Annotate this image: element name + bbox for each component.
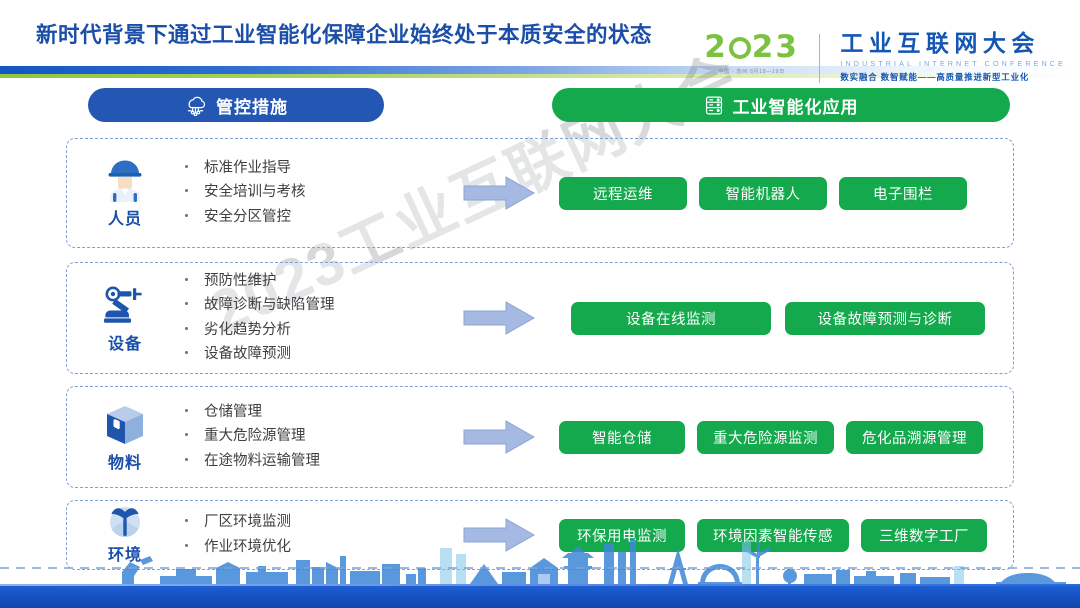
- category-personnel: 人员: [79, 157, 171, 229]
- logo-divider: [819, 34, 821, 83]
- bullet-list-material: 仓储管理 重大危险源管理 在途物料运输管理: [171, 402, 439, 471]
- box-package-icon: [103, 401, 147, 447]
- bullet-dot: [185, 433, 188, 436]
- tag-list-material: 智能仓储 重大危险源监测 危化品溯源管理: [559, 421, 1013, 454]
- bullet-text: 安全培训与考核: [204, 182, 306, 203]
- city-skyline-decoration: [0, 538, 1080, 586]
- bullet-dot: [185, 458, 188, 461]
- bullet-dot: [185, 302, 188, 305]
- category-equipment: 设备: [79, 282, 171, 354]
- bullet-text: 厂区环境监测: [204, 512, 291, 533]
- category-label: 设备: [108, 330, 142, 354]
- arrow-right-icon: [462, 419, 536, 455]
- bullet-item: 重大危险源管理: [185, 426, 439, 447]
- slide-root: 新时代背景下通过工业智能化保障企业始终处于本质安全的状态 223 中国 · 苏州…: [0, 0, 1080, 608]
- footer-band: [0, 584, 1080, 608]
- bullet-item: 标准作业指导: [185, 158, 439, 179]
- worker-helmet-icon: [104, 157, 146, 203]
- tag-item[interactable]: 设备在线监测: [571, 302, 771, 335]
- logo-tagline: 数实融合 数智赋能——高质量推进新型工业化: [840, 71, 1066, 83]
- tag-item[interactable]: 远程运维: [559, 177, 687, 210]
- arrow-right-icon: [462, 300, 536, 336]
- tag-item[interactable]: 设备故障预测与诊断: [785, 302, 985, 335]
- bullet-dot: [185, 351, 188, 354]
- bullet-item: 设备故障预测: [185, 344, 439, 365]
- logo-text-block: 工业互联网大会 INDUSTRIAL INTERNET CONFERENCE 数…: [830, 32, 1066, 83]
- bullet-text: 故障诊断与缺陷管理: [204, 295, 335, 316]
- bullet-text: 重大危险源管理: [204, 426, 306, 447]
- row-material: 物料 仓储管理 重大危险源管理 在途物料运输管理 智能仓储 重大危险源监测 危化…: [66, 386, 1014, 488]
- tag-item[interactable]: 重大危险源监测: [697, 421, 834, 454]
- bullet-item: 厂区环境监测: [185, 512, 439, 533]
- column-header-right-label: 工业智能化应用: [733, 93, 859, 118]
- page-title: 新时代背景下通过工业智能化保障企业始终处于本质安全的状态: [36, 18, 652, 49]
- tag-item[interactable]: 电子围栏: [839, 177, 967, 210]
- bullet-dot: [185, 409, 188, 412]
- arrow-cell: [439, 419, 559, 455]
- bullet-dot: [185, 165, 188, 168]
- bullet-dot: [185, 189, 188, 192]
- bullet-item: 安全分区管控: [185, 207, 439, 228]
- bullet-item: 预防性维护: [185, 271, 439, 292]
- leaf-shield-icon: [106, 505, 144, 539]
- logo-english-title: INDUSTRIAL INTERNET CONFERENCE: [840, 59, 1066, 68]
- tag-item[interactable]: 智能仓储: [559, 421, 685, 454]
- slide-header: 新时代背景下通过工业智能化保障企业始终处于本质安全的状态 223 中国 · 苏州…: [0, 0, 1080, 78]
- category-label: 人员: [108, 205, 142, 229]
- bullet-dot: [185, 519, 188, 522]
- bullet-dot: [185, 278, 188, 281]
- logo-zero-ring: [729, 37, 751, 59]
- arrow-cell: [439, 300, 559, 336]
- arrow-right-icon: [462, 175, 536, 211]
- cloud-network-icon: [184, 95, 207, 116]
- tag-list-equipment: 设备在线监测 设备故障预测与诊断: [559, 302, 1013, 335]
- column-header-industrial-ai-apps[interactable]: 工业智能化应用: [552, 88, 1010, 122]
- category-label: 物料: [108, 449, 142, 473]
- bullet-text: 在途物料运输管理: [204, 451, 320, 472]
- row-personnel: 人员 标准作业指导 安全培训与考核 安全分区管控 远程运维 智能机器人 电子围栏: [66, 138, 1014, 248]
- bullet-item: 仓储管理: [185, 402, 439, 423]
- tag-list-personnel: 远程运维 智能机器人 电子围栏: [559, 177, 1013, 210]
- bullet-item: 在途物料运输管理: [185, 451, 439, 472]
- bullet-list-equipment: 预防性维护 故障诊断与缺陷管理 劣化趋势分析 设备故障预测: [171, 271, 439, 364]
- logo-year: 223: [704, 32, 799, 63]
- bullet-text: 标准作业指导: [204, 158, 291, 179]
- tag-item[interactable]: 智能机器人: [699, 177, 827, 210]
- conference-logo: 223 中国 · 苏州 8月18—19日 工业互联网大会 INDUSTRIAL …: [704, 32, 1066, 83]
- arrow-cell: [439, 175, 559, 211]
- column-header-left-label: 管控措施: [216, 93, 288, 118]
- logo-year-sub: 中国 · 苏州 8月18—19日: [704, 68, 799, 75]
- bullet-text: 仓储管理: [204, 402, 262, 423]
- category-material: 物料: [79, 401, 171, 473]
- bullet-item: 劣化趋势分析: [185, 320, 439, 341]
- logo-main-title: 工业互联网大会: [840, 32, 1066, 55]
- bullet-list-personnel: 标准作业指导 安全培训与考核 安全分区管控: [171, 158, 439, 227]
- robot-arm-icon: [102, 282, 148, 328]
- bullet-item: 故障诊断与缺陷管理: [185, 295, 439, 316]
- server-rack-icon: [704, 95, 724, 116]
- row-equipment: 设备 预防性维护 故障诊断与缺陷管理 劣化趋势分析 设备故障预测 设备在线监测 …: [66, 262, 1014, 374]
- bullet-text: 劣化趋势分析: [204, 320, 291, 341]
- bullet-dot: [185, 327, 188, 330]
- bullet-dot: [185, 214, 188, 217]
- column-header-control-measures[interactable]: 管控措施: [88, 88, 384, 122]
- tag-item[interactable]: 危化品溯源管理: [846, 421, 983, 454]
- logo-year-block: 223 中国 · 苏州 8月18—19日: [704, 32, 809, 75]
- bullet-item: 安全培训与考核: [185, 182, 439, 203]
- bullet-text: 设备故障预测: [204, 344, 291, 365]
- bullet-text: 安全分区管控: [204, 207, 291, 228]
- bullet-text: 预防性维护: [204, 271, 277, 292]
